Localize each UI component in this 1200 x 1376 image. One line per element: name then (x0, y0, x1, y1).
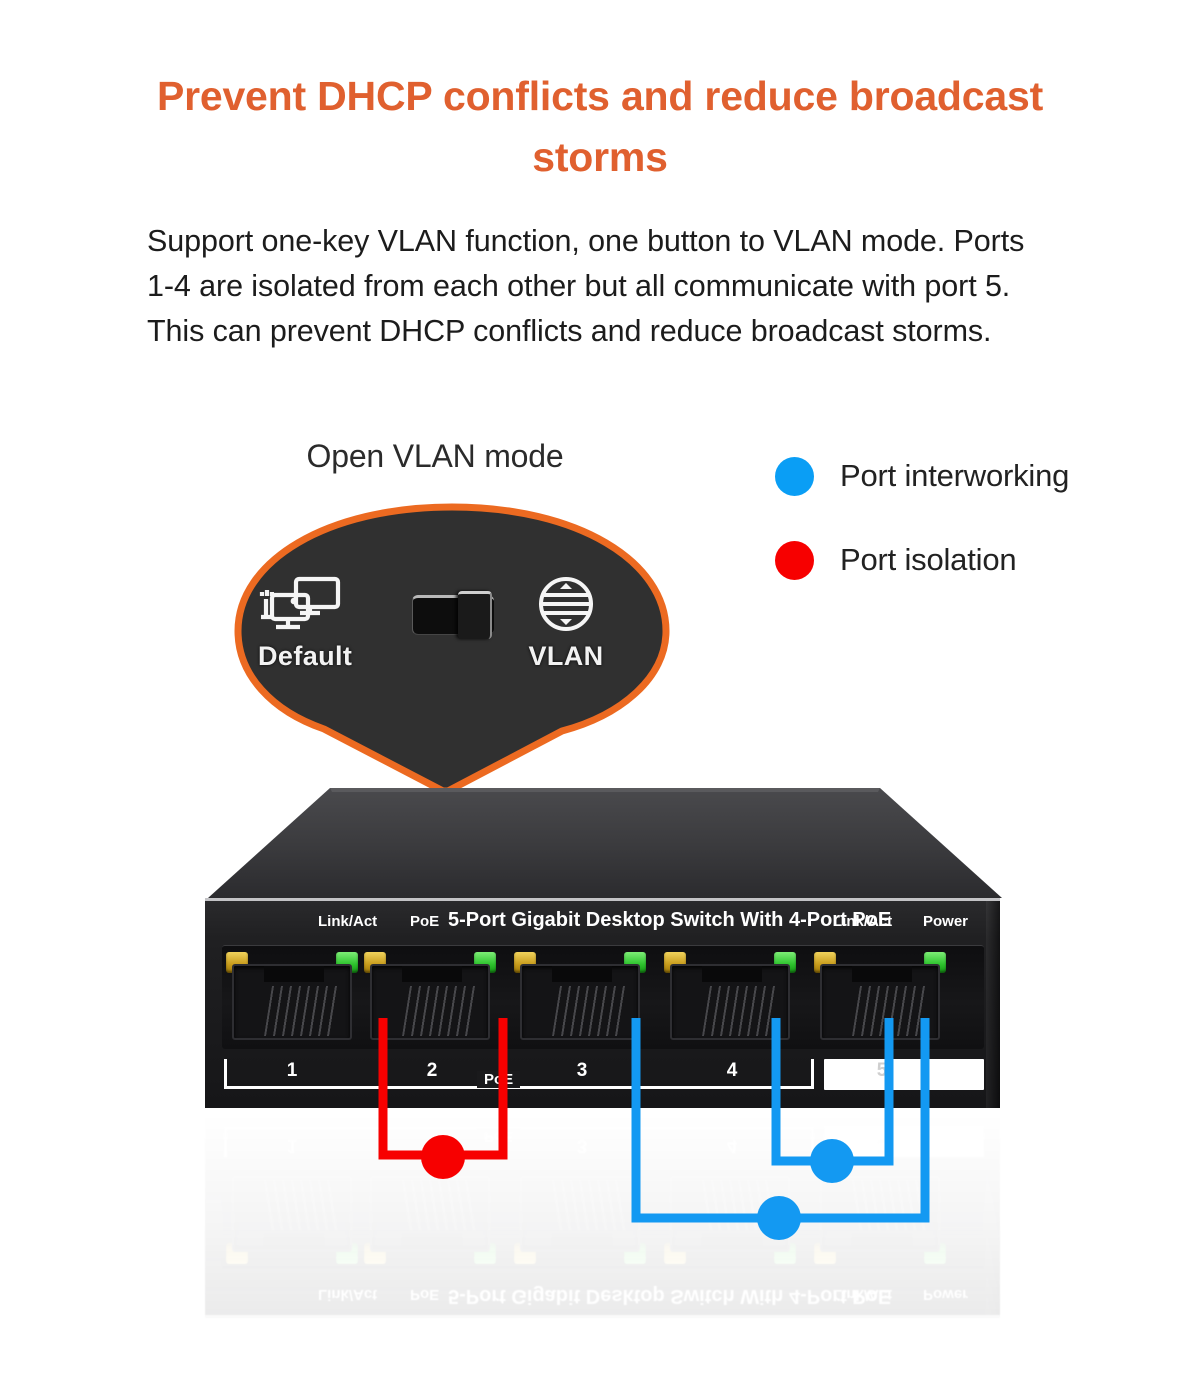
body-paragraph: Support one-key VLAN function, one butto… (147, 219, 1047, 353)
two-computers-icon (258, 573, 350, 635)
faceplate-title: 5-Port Gigabit Desktop Switch With 4-Por… (448, 909, 891, 932)
callout-title: Open VLAN mode (245, 438, 625, 475)
default-mode-label: Default (258, 641, 350, 672)
vlan-mode-label: VLAN (520, 641, 612, 672)
label-poe: PoE (410, 913, 439, 930)
promo-page: Prevent DHCP conflicts and reduce broadc… (0, 0, 1200, 1376)
label-linkact-left: Link/Act (318, 913, 377, 930)
network-switch-device: Link/Act PoE 5-Port Gigabit Desktop Swit… (190, 788, 1010, 1108)
rj45-port-1 (232, 964, 352, 1040)
globe-icon (520, 573, 612, 635)
legend-label-interworking: Port interworking (840, 458, 1069, 494)
faceplate-labels: Link/Act PoE 5-Port Gigabit Desktop Swit… (205, 913, 1000, 939)
table-row[interactable] (362, 952, 498, 1044)
port-numbers-row: PoE 1 2 3 4 5 (222, 1053, 984, 1101)
default-mode-group: Default (258, 573, 350, 672)
legend-dot-blue-icon (775, 457, 814, 496)
rj45-port-3 (520, 964, 640, 1040)
device-reflection: Link/Act PoE 5-Port Gigabit Desktop Swit… (190, 1108, 1010, 1338)
table-row[interactable] (662, 952, 798, 1044)
table-row[interactable] (812, 952, 948, 1044)
rj45-port-4 (670, 964, 790, 1040)
legend-label-isolation: Port isolation (840, 542, 1016, 578)
toggle-knob[interactable] (458, 591, 492, 639)
vlan-toggle-callout: Default VLAN (232, 503, 672, 795)
label-power: Power (923, 913, 968, 930)
vlan-mode-toggle[interactable] (412, 591, 494, 637)
reflection-front-panel: Link/Act PoE 5-Port Gigabit Desktop Swit… (205, 1108, 1000, 1318)
legend-dot-red-icon (775, 541, 814, 580)
device-top-panel (190, 788, 1010, 900)
table-row[interactable] (512, 952, 648, 1044)
rj45-port-5 (820, 964, 940, 1040)
legend-item-interworking: Port interworking (775, 434, 1175, 518)
legend-item-isolation: Port isolation (775, 518, 1175, 602)
table-row[interactable] (224, 952, 360, 1044)
port-strip (222, 945, 984, 1049)
legend: Port interworking Port isolation (775, 434, 1175, 602)
label-linkact-right: Link/Act (833, 913, 892, 930)
port-number-4: 4 (718, 1060, 746, 1082)
rj45-port-2 (370, 964, 490, 1040)
port-number-1: 1 (278, 1060, 306, 1082)
port-number-3: 3 (568, 1060, 596, 1082)
poe-bracket-label: PoE (477, 1071, 520, 1088)
device-front-panel: Link/Act PoE 5-Port Gigabit Desktop Swit… (205, 898, 1000, 1108)
port5-plate (824, 1059, 984, 1090)
page-title: Prevent DHCP conflicts and reduce broadc… (140, 66, 1060, 187)
vlan-mode-group: VLAN (520, 573, 612, 672)
port-number-2: 2 (418, 1060, 446, 1082)
port-number-5: 5 (868, 1060, 896, 1082)
